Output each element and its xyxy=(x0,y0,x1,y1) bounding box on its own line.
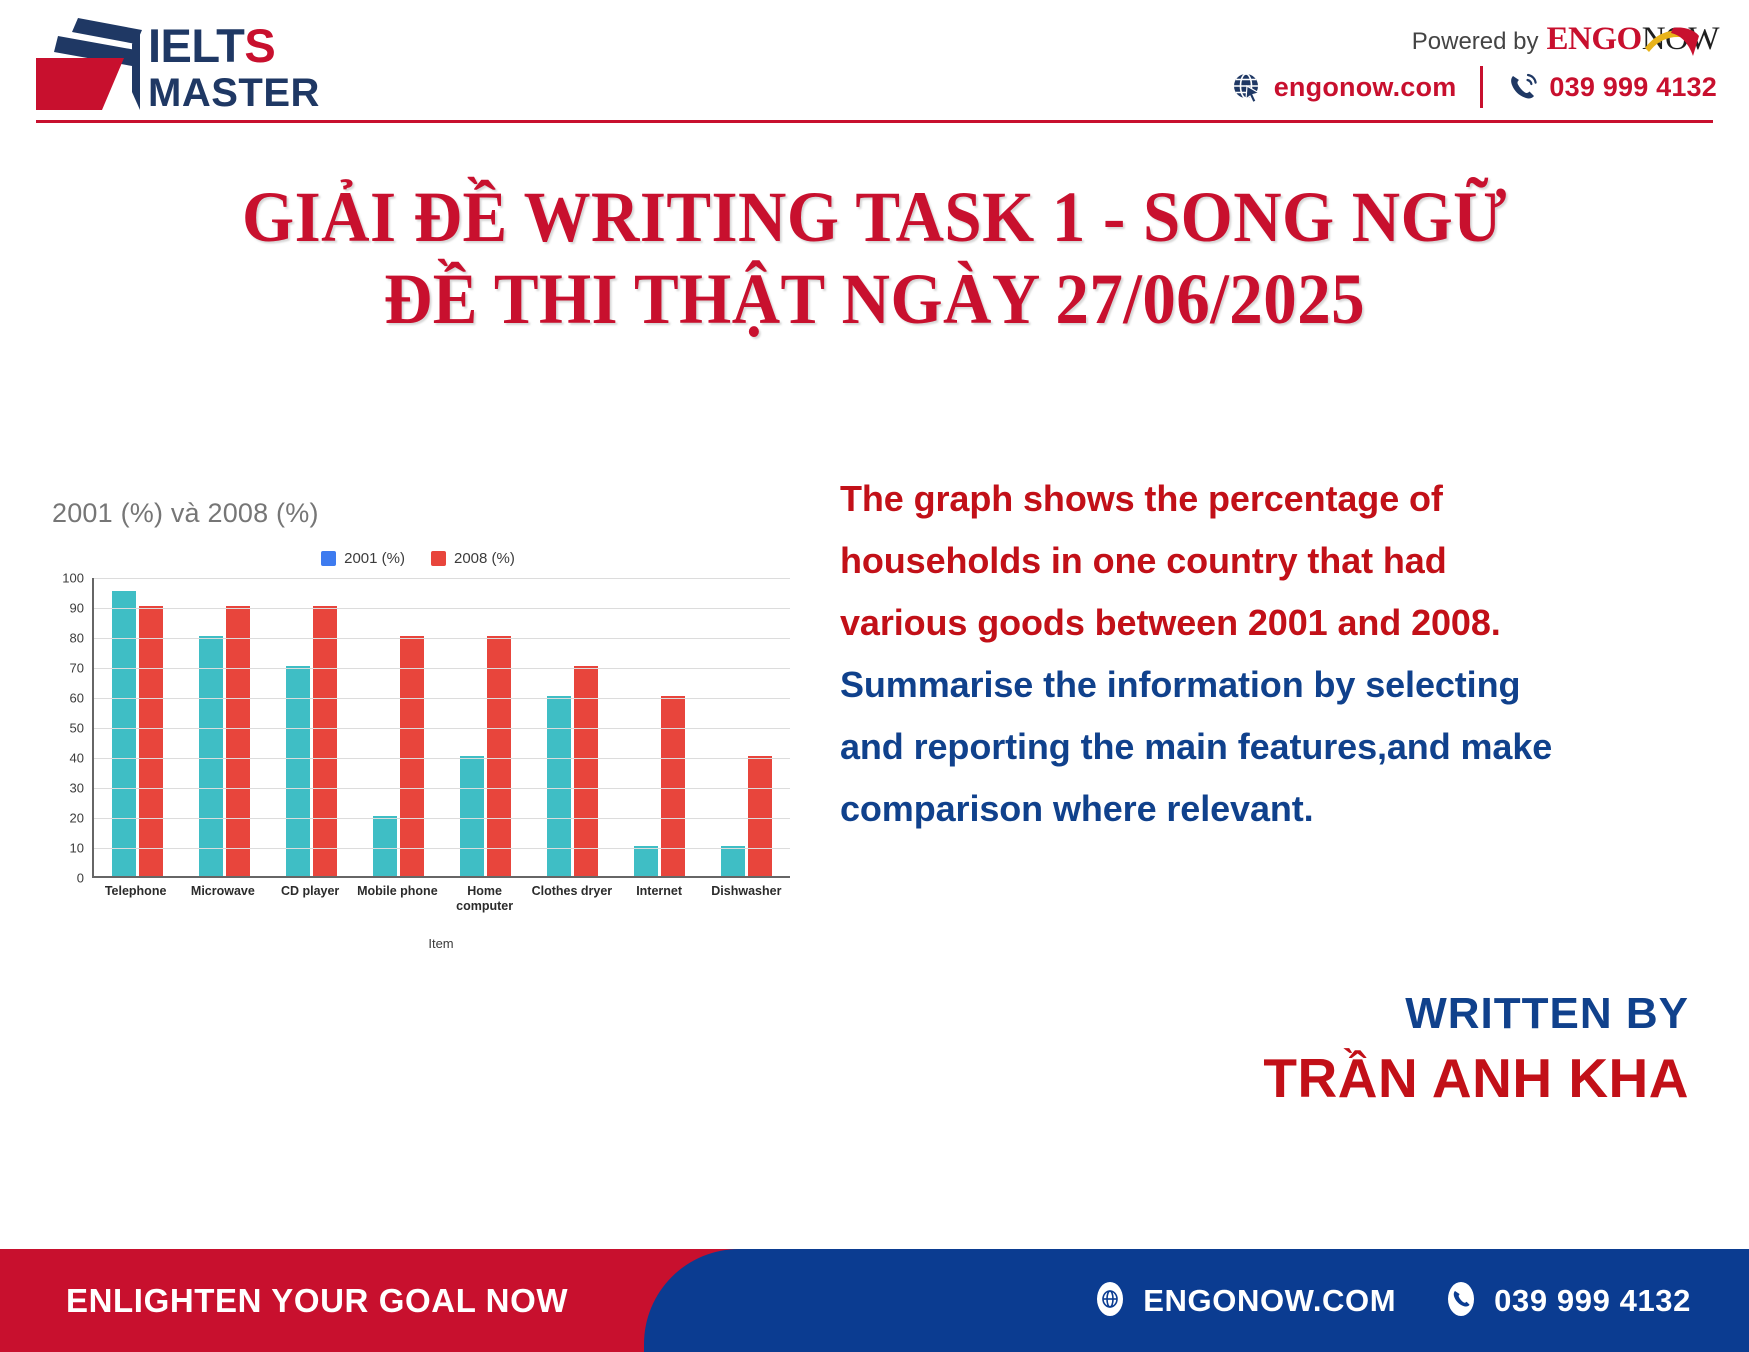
footer-contacts: ENGONOW.COM 039 999 4132 xyxy=(1093,1249,1691,1352)
page-title-line-2: ĐỀ THI THẬT NGÀY 27/06/2025 xyxy=(61,258,1688,340)
x-axis-tick: Dishwasher xyxy=(703,884,789,914)
bar-2008 xyxy=(400,636,424,876)
x-axis-tick: Clothes dryer xyxy=(529,884,615,914)
grid-line xyxy=(94,698,790,699)
legend-label-2001: 2001 (%) xyxy=(344,550,405,567)
task-prompt-blue: Summarise the information by selecting a… xyxy=(840,664,1552,829)
chart-title: 2001 (%) và 2008 (%) xyxy=(52,498,319,529)
header-divider xyxy=(1480,66,1483,108)
header-phone-text: 039 999 4132 xyxy=(1549,72,1717,103)
bar-group xyxy=(286,578,337,876)
phone-ring-icon xyxy=(1507,72,1537,102)
footer-phone-text: 039 999 4132 xyxy=(1494,1283,1691,1319)
engonow-engo: ENGO xyxy=(1547,21,1642,57)
y-axis-tick: 50 xyxy=(52,721,84,736)
header-website-text: engonow.com xyxy=(1274,72,1457,103)
bar-2001 xyxy=(112,591,136,876)
bar-group xyxy=(112,578,163,876)
footer-website-text: ENGONOW.COM xyxy=(1143,1283,1396,1319)
header-divider-rule xyxy=(36,120,1713,123)
x-axis-tick: Telephone xyxy=(93,884,179,914)
bar-2001 xyxy=(373,816,397,876)
grid-line xyxy=(94,788,790,789)
y-axis-tick: 10 xyxy=(52,841,84,856)
legend-swatch-2001 xyxy=(321,551,336,566)
header-contacts: engonow.com 039 999 4132 xyxy=(1232,66,1717,108)
task-prompt: The graph shows the percentage of househ… xyxy=(840,468,1560,840)
x-axis-tick: Internet xyxy=(616,884,702,914)
logo-s: S xyxy=(244,19,275,72)
x-axis-title: Item xyxy=(92,936,790,951)
credit-block: WRITTEN BY TRẦN ANH KHA xyxy=(1009,985,1689,1113)
book-swish-icon xyxy=(1643,26,1701,60)
author-name: TRẦN ANH KHA xyxy=(1009,1043,1689,1113)
y-axis-tick: 80 xyxy=(52,631,84,646)
grid-line xyxy=(94,848,790,849)
y-axis-tick: 90 xyxy=(52,601,84,616)
chart-bars xyxy=(94,578,790,876)
y-axis-tick-labels: 0102030405060708090100 xyxy=(52,578,88,878)
legend-swatch-2008 xyxy=(431,551,446,566)
powered-by-block: Powered by ENGONOW xyxy=(1412,22,1719,56)
logo-ielt: IELT xyxy=(148,19,244,72)
legend-item-2001: 2001 (%) xyxy=(321,550,405,567)
logo-wordmark: IELTS MASTER xyxy=(148,22,320,116)
header-website[interactable]: engonow.com xyxy=(1232,72,1457,103)
grid-line xyxy=(94,578,790,579)
page-title: GIẢI ĐỀ WRITING TASK 1 - SONG NGỮ ĐỀ THI… xyxy=(0,176,1749,340)
bar-2008 xyxy=(661,696,685,876)
x-axis-tick: CD player xyxy=(267,884,353,914)
poster-canvas: IELTS MASTER Powered by ENGONOW xyxy=(0,0,1749,1352)
bar-2001 xyxy=(199,636,223,876)
header-phone[interactable]: 039 999 4132 xyxy=(1507,72,1717,103)
footer-phone[interactable]: 039 999 4132 xyxy=(1444,1281,1691,1321)
powered-by-label: Powered by xyxy=(1412,28,1539,56)
bar-group xyxy=(460,578,511,876)
x-axis-tick: Mobile phone xyxy=(354,884,440,914)
bar-group xyxy=(721,578,772,876)
phone-icon xyxy=(1444,1281,1478,1321)
y-axis-tick: 100 xyxy=(52,571,84,586)
grid-line xyxy=(94,668,790,669)
bar-group xyxy=(373,578,424,876)
bar-2008 xyxy=(487,636,511,876)
chart-legend: 2001 (%) 2008 (%) xyxy=(44,550,792,567)
task-prompt-red: The graph shows the percentage of househ… xyxy=(840,478,1501,643)
page-footer: ENLIGHTEN YOUR GOAL NOW ENGONOW.COM 039 … xyxy=(0,1249,1749,1352)
y-axis-tick: 30 xyxy=(52,781,84,796)
footer-website[interactable]: ENGONOW.COM xyxy=(1093,1281,1396,1321)
page-title-line-1: GIẢI ĐỀ WRITING TASK 1 - SONG NGỮ xyxy=(61,176,1688,258)
y-axis-tick: 0 xyxy=(52,871,84,886)
bar-group xyxy=(199,578,250,876)
grid-line xyxy=(94,758,790,759)
bar-2008 xyxy=(226,606,250,876)
y-axis-tick: 60 xyxy=(52,691,84,706)
written-by-label: WRITTEN BY xyxy=(1009,985,1689,1043)
bar-group xyxy=(634,578,685,876)
logo-line-one: IELTS xyxy=(148,22,320,70)
x-axis-tick-labels: TelephoneMicrowaveCD playerMobile phoneH… xyxy=(92,884,790,914)
bar-2008 xyxy=(313,606,337,876)
globe-icon xyxy=(1093,1281,1127,1321)
grid-line xyxy=(94,638,790,639)
grid-line xyxy=(94,818,790,819)
legend-label-2008: 2008 (%) xyxy=(454,550,515,567)
bar-group xyxy=(547,578,598,876)
bar-chart: 2001 (%) và 2008 (%) 2001 (%) 2008 (%) 0… xyxy=(44,490,792,950)
chart-plot: 0102030405060708090100 TelephoneMicrowav… xyxy=(52,578,792,878)
bar-2008 xyxy=(748,756,772,876)
page-header: IELTS MASTER Powered by ENGONOW xyxy=(0,0,1749,122)
ielts-master-logo: IELTS MASTER xyxy=(36,14,336,112)
x-axis-tick: Home computer xyxy=(442,884,528,914)
globe-cursor-icon xyxy=(1232,72,1262,102)
footer-slogan: ENLIGHTEN YOUR GOAL NOW xyxy=(66,1249,568,1352)
bar-2001 xyxy=(460,756,484,876)
legend-item-2008: 2008 (%) xyxy=(431,550,515,567)
logo-line-two: MASTER xyxy=(148,70,320,116)
bar-2001 xyxy=(547,696,571,876)
chart-plot-area xyxy=(92,578,790,878)
y-axis-tick: 20 xyxy=(52,811,84,826)
grid-line xyxy=(94,608,790,609)
x-axis-tick: Microwave xyxy=(180,884,266,914)
task-prompt-text: The graph shows the percentage of househ… xyxy=(840,468,1560,840)
stacked-books-icon xyxy=(36,18,144,110)
bar-2001 xyxy=(634,846,658,876)
y-axis-tick: 70 xyxy=(52,661,84,676)
bar-2008 xyxy=(139,606,163,876)
bar-2001 xyxy=(721,846,745,876)
y-axis-tick: 40 xyxy=(52,751,84,766)
grid-line xyxy=(94,728,790,729)
